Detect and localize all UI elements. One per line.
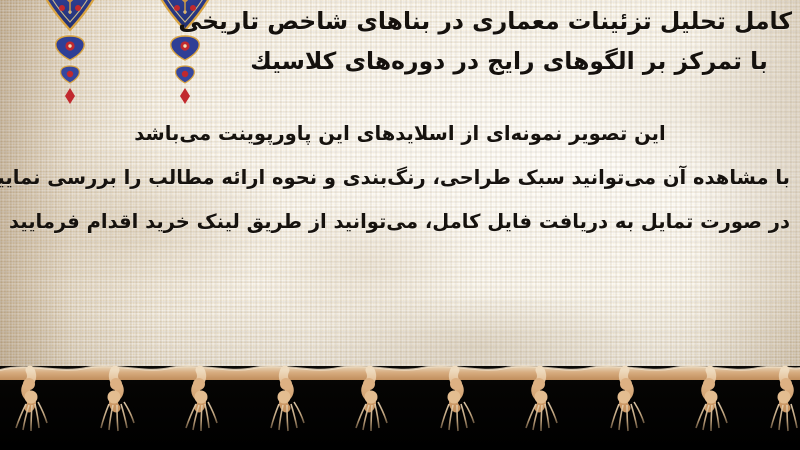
title-line-2: با تمرکز بر الگوهای رایج در دوره‌های کلا… [226, 41, 792, 81]
body-line-1: این تصویر نمونه‌ای از اسلایدهای این پاور… [10, 112, 790, 156]
slide-canvas: کامل تحلیل تزئینات معماری در بناهای شاخص… [0, 0, 800, 450]
title-line-1: کامل تحلیل تزئینات معماری در بناهای شاخص… [226, 1, 792, 41]
body-line-2: با مشاهده آن می‌توانید سبک طراحی، رنگ‌بن… [10, 156, 790, 200]
fringe-tassels [0, 340, 800, 450]
carpet-fringe [0, 340, 800, 450]
body-line-3: در صورت تمایل به دریافت فایل کامل، می‌تو… [10, 200, 790, 244]
slide-body: این تصویر نمونه‌ای از اسلایدهای این پاور… [10, 112, 790, 244]
slide-title: کامل تحلیل تزئینات معماری در بناهای شاخص… [226, 1, 792, 81]
